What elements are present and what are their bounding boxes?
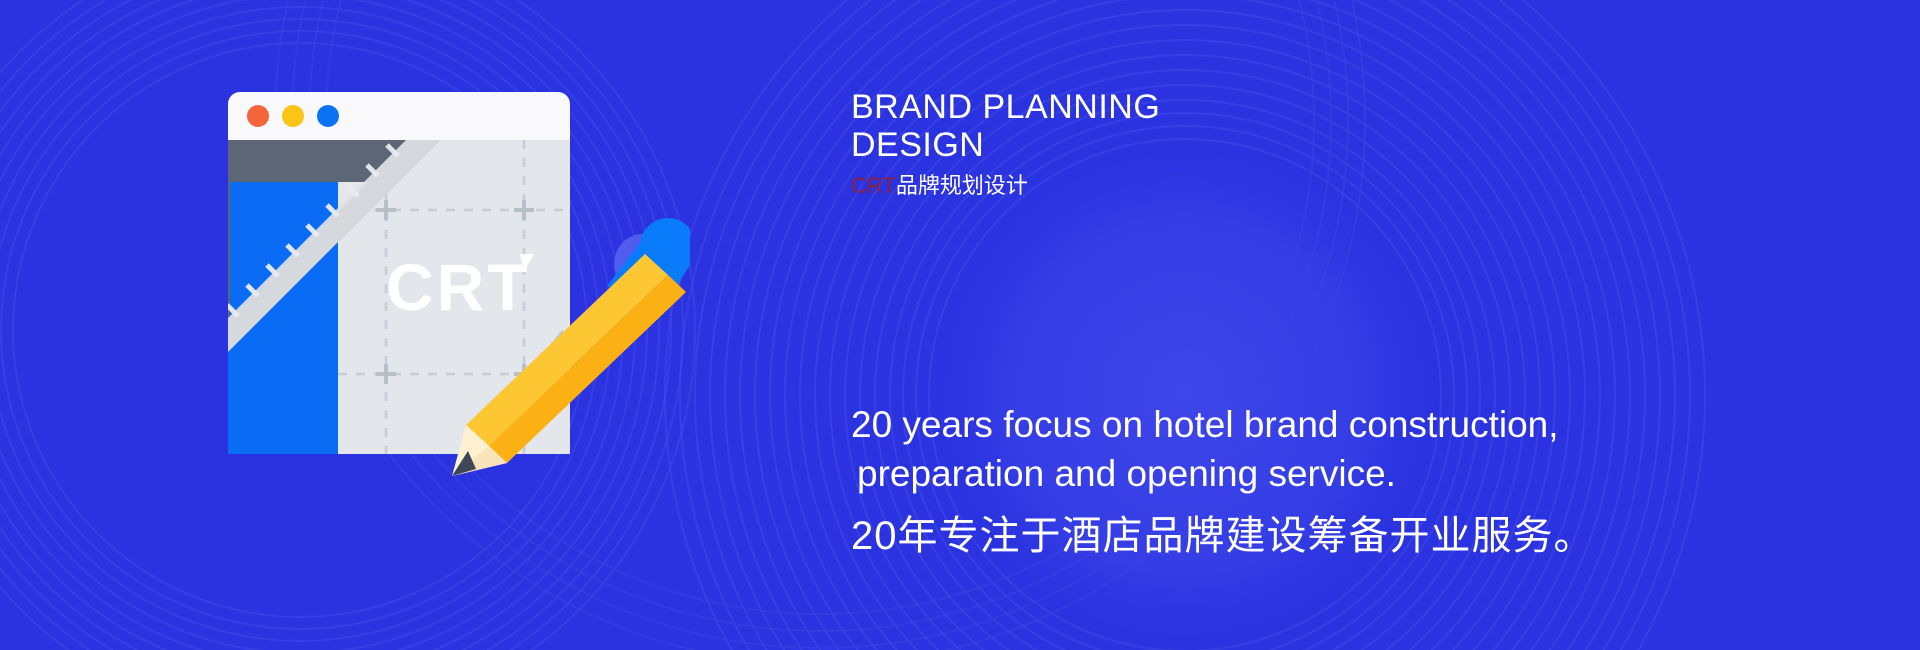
close-dot-icon[interactable] (247, 105, 269, 127)
tagline-en-line-1: 20 years focus on hotel brand constructi… (851, 404, 1559, 445)
subheading: CRT品牌规划设计 (851, 172, 1160, 200)
brand-mark-text: CRT (851, 173, 896, 198)
minimize-dot-icon[interactable] (282, 105, 304, 127)
subheading-cn-text: 品牌规划设计 (896, 173, 1028, 198)
window-title-bar (228, 92, 570, 140)
tagline-chinese: 20年专注于酒店品牌建设筹备开业服务。 (851, 508, 1595, 564)
brand-design-illustration: CRT (190, 78, 690, 478)
heading-line-2: DESIGN (851, 126, 1160, 164)
browser-window-icon: CRT (190, 78, 690, 478)
tagline-english: 20 years focus on hotel brand constructi… (851, 400, 1595, 498)
tagline-en-line-2: preparation and opening service. (851, 449, 1595, 498)
maximize-dot-icon[interactable] (317, 105, 339, 127)
promo-banner: CRT (0, 0, 1920, 650)
heading-block: BRAND PLANNING DESIGN CRT品牌规划设计 (851, 88, 1160, 200)
heading-line-1: BRAND PLANNING (851, 88, 1160, 126)
tagline-block: 20 years focus on hotel brand constructi… (851, 400, 1595, 564)
banner-copy: BRAND PLANNING DESIGN CRT品牌规划设计 20 years… (851, 0, 1851, 650)
canvas-logo-text: CRT (386, 250, 531, 324)
